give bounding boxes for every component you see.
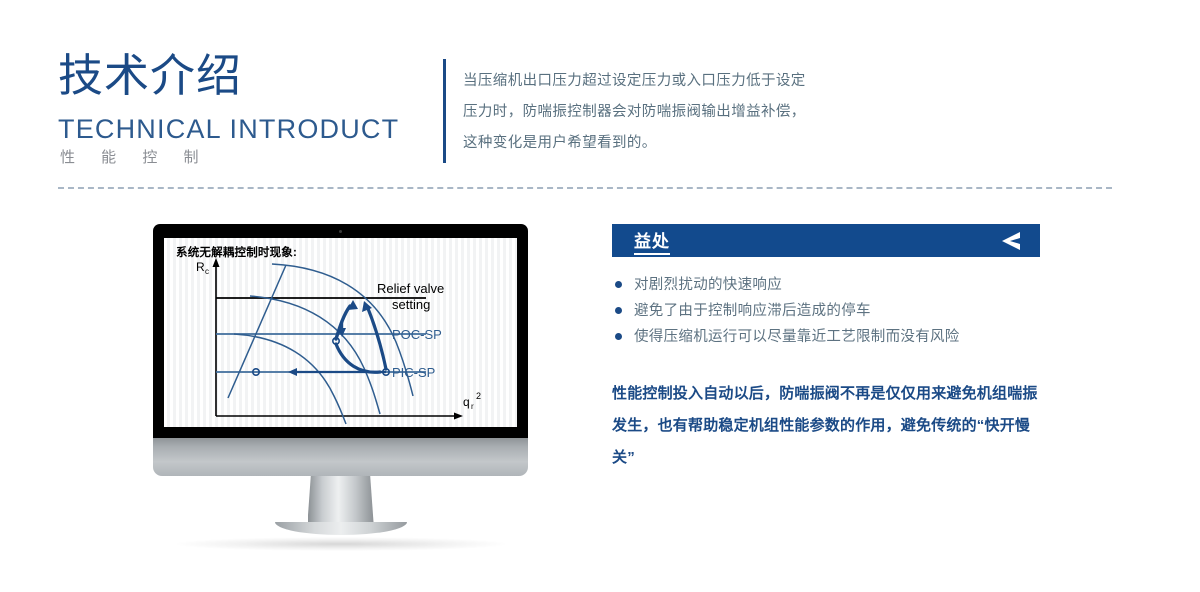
speed-curve-2 xyxy=(250,296,380,414)
benefits-title: 益处 xyxy=(634,227,670,255)
list-item-label: 避免了由于控制响应滞后造成的停车 xyxy=(634,303,871,319)
pic-sp-label: PIC-SP xyxy=(392,365,435,380)
svg-text:c: c xyxy=(205,267,209,276)
x-axis-label: q r 2 xyxy=(463,391,481,411)
header-vertical-rule xyxy=(443,59,446,163)
benefits-list: 对剧烈扰动的快速响应 避免了由于控制响应滞后造成的停车 使得压缩机运行可以尽量靠… xyxy=(612,272,1040,350)
svg-text:r: r xyxy=(471,402,474,411)
page-title: 技术介绍 xyxy=(58,49,242,102)
monitor-chin xyxy=(153,438,528,476)
list-item: 对剧烈扰动的快速响应 xyxy=(612,272,1040,298)
monitor-stand-neck xyxy=(308,476,374,522)
poc-sp-label: POC-SP xyxy=(392,327,442,342)
page-header: 技术介绍 TECHNICAL INTRODUCT 性 能 控 制 当压缩机出口压… xyxy=(0,0,1200,200)
webcam-icon xyxy=(339,230,342,233)
monitor-stand-foot xyxy=(275,522,407,535)
list-item: 使得压缩机运行可以尽量靠近工艺限制而没有风险 xyxy=(612,324,1040,350)
monitor-shadow xyxy=(176,537,506,551)
chevron-left-icon[interactable] xyxy=(1000,230,1022,252)
monitor-screen: 系统无解耦控制时现象: R c q r xyxy=(164,238,517,427)
bullet-icon xyxy=(615,307,622,314)
benefits-panel: 益处 对剧烈扰动的快速响应 避免了由于控制响应滞后造成的停车 使得压缩机运行可以… xyxy=(612,224,1040,257)
surge-limit-line xyxy=(228,265,286,398)
monitor-bezel: 系统无解耦控制时现象: R c q r xyxy=(153,224,528,438)
bullet-icon xyxy=(615,333,622,340)
page-title-english: TECHNICAL INTRODUCT xyxy=(58,113,399,145)
y-axis-label: R c xyxy=(196,260,209,276)
relief-valve-setting-label-line2: setting xyxy=(392,297,430,312)
benefits-header-bar: 益处 xyxy=(612,224,1040,257)
svg-text:R: R xyxy=(196,260,205,274)
page-subtitle: 性 能 控 制 xyxy=(60,148,210,168)
closing-paragraph: 性能控制投入自动以后，防喘振阀不再是仅仅用来避免机组喘振发生，也有帮助稳定机组性… xyxy=(612,378,1052,474)
relief-valve-setting-label-line1: Relief valve xyxy=(377,281,444,296)
header-dashed-divider xyxy=(58,187,1112,189)
list-item: 避免了由于控制响应滞后造成的停车 xyxy=(612,298,1040,324)
bullet-icon xyxy=(615,281,622,288)
svg-text:2: 2 xyxy=(476,391,481,401)
list-item-label: 对剧烈扰动的快速响应 xyxy=(634,277,782,293)
svg-text:q: q xyxy=(463,395,470,409)
monitor-illustration: 系统无解耦控制时现象: R c q r xyxy=(153,224,528,551)
list-item-label: 使得压缩机运行可以尽量靠近工艺限制而没有风险 xyxy=(634,329,960,345)
surge-control-chart: R c q r 2 xyxy=(164,238,517,427)
intro-paragraph: 当压缩机出口压力超过设定压力或入口压力低于设定压力时，防喘振控制器会对防喘振阀输… xyxy=(463,66,813,159)
